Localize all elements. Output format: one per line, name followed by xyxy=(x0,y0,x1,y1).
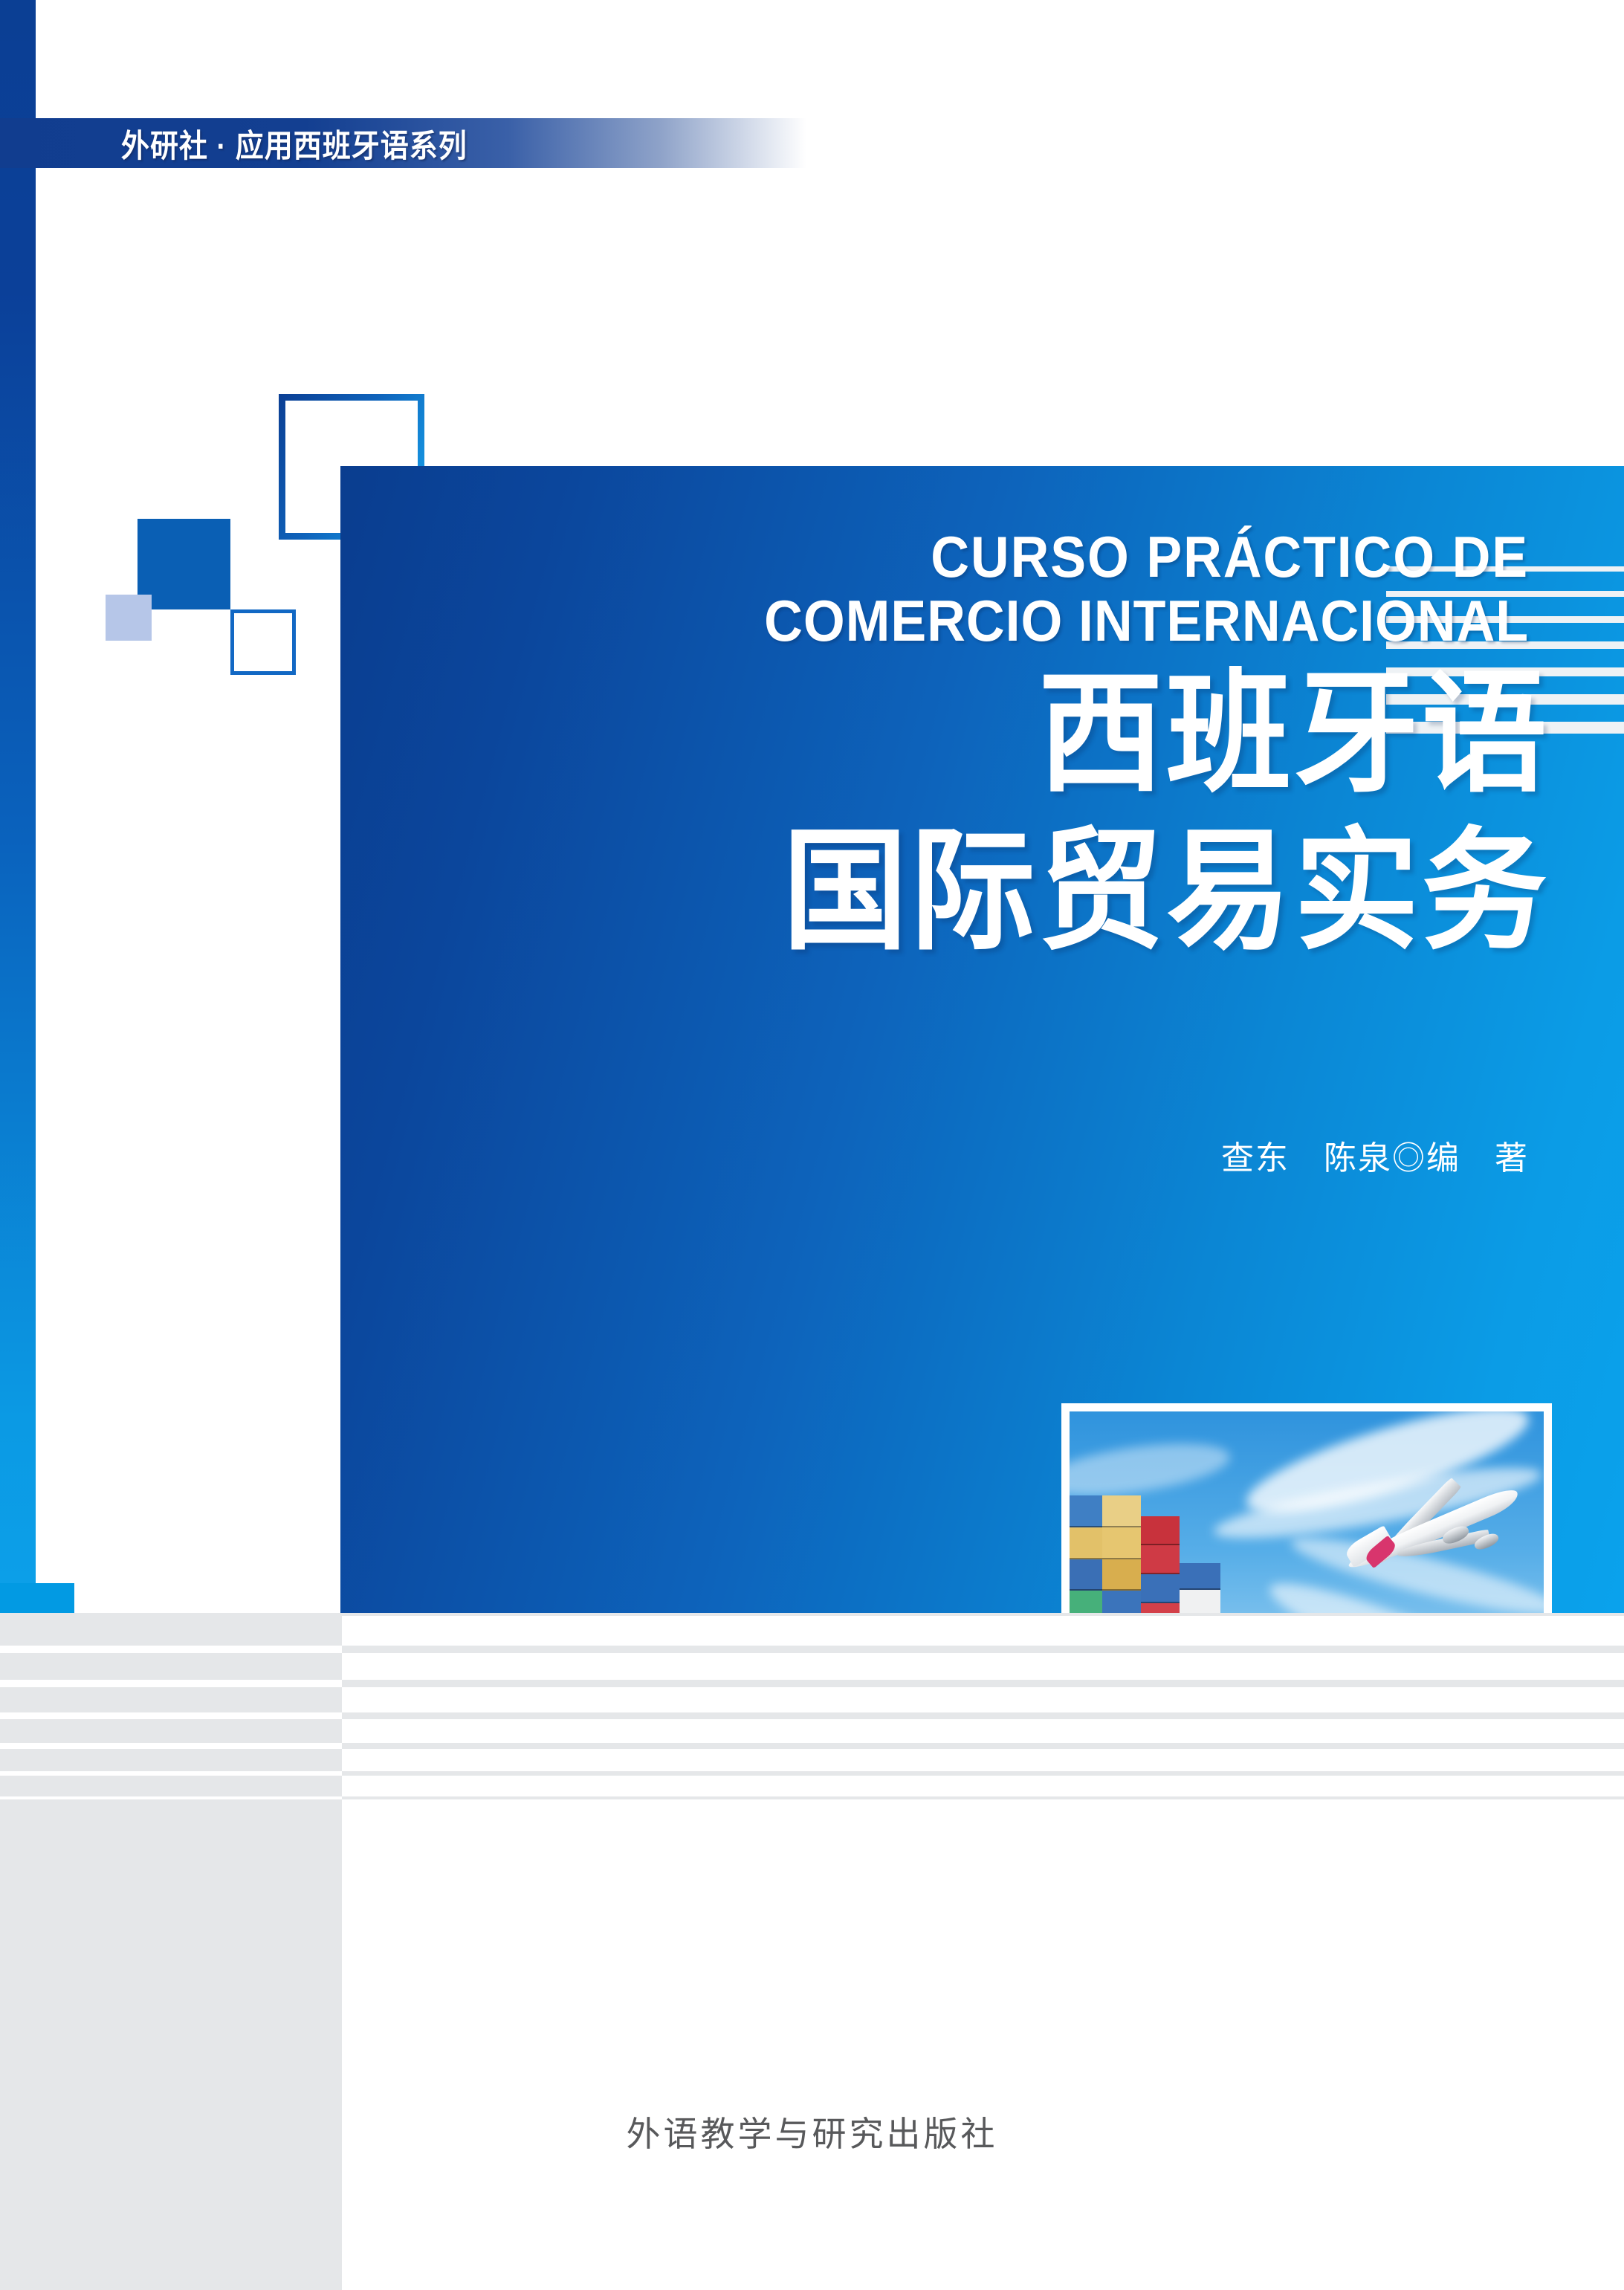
series-banner: 外研社 · 应用西班牙语系列 xyxy=(0,118,806,168)
spanish-title: CURSO PRÁCTICO DE COMERCIO INTERNACIONAL xyxy=(436,525,1529,653)
spanish-title-line-1: CURSO PRÁCTICO DE xyxy=(436,525,1529,589)
cargo-airplane-icon xyxy=(1311,1483,1524,1616)
series-label: 外研社 · 应用西班牙语系列 xyxy=(121,120,468,166)
book-cover: 外研社 · 应用西班牙语系列 CURSO PRÁCTICO DE COMERCI… xyxy=(0,0,1624,2290)
bottom-stripe-region xyxy=(0,1613,1624,2290)
spanish-title-line-2: COMERCIO INTERNACIONAL xyxy=(436,589,1529,653)
cyan-accent-tab xyxy=(0,1583,74,1613)
left-spine-bar xyxy=(0,0,36,1613)
decor-square-lavender xyxy=(106,595,152,641)
decor-square-outline-small xyxy=(230,609,296,675)
publisher-name: 外语教学与研究出版社 xyxy=(0,2107,1624,2156)
chinese-title-line-1: 西班牙语 xyxy=(340,656,1550,813)
stripe-bands-left xyxy=(0,1613,342,1812)
chinese-title-line-2: 国际贸易实务 xyxy=(340,813,1550,971)
chinese-title: 西班牙语 国际贸易实务 xyxy=(340,656,1550,971)
authors-line: 查东 陈泉◎编 著 xyxy=(340,1131,1529,1179)
